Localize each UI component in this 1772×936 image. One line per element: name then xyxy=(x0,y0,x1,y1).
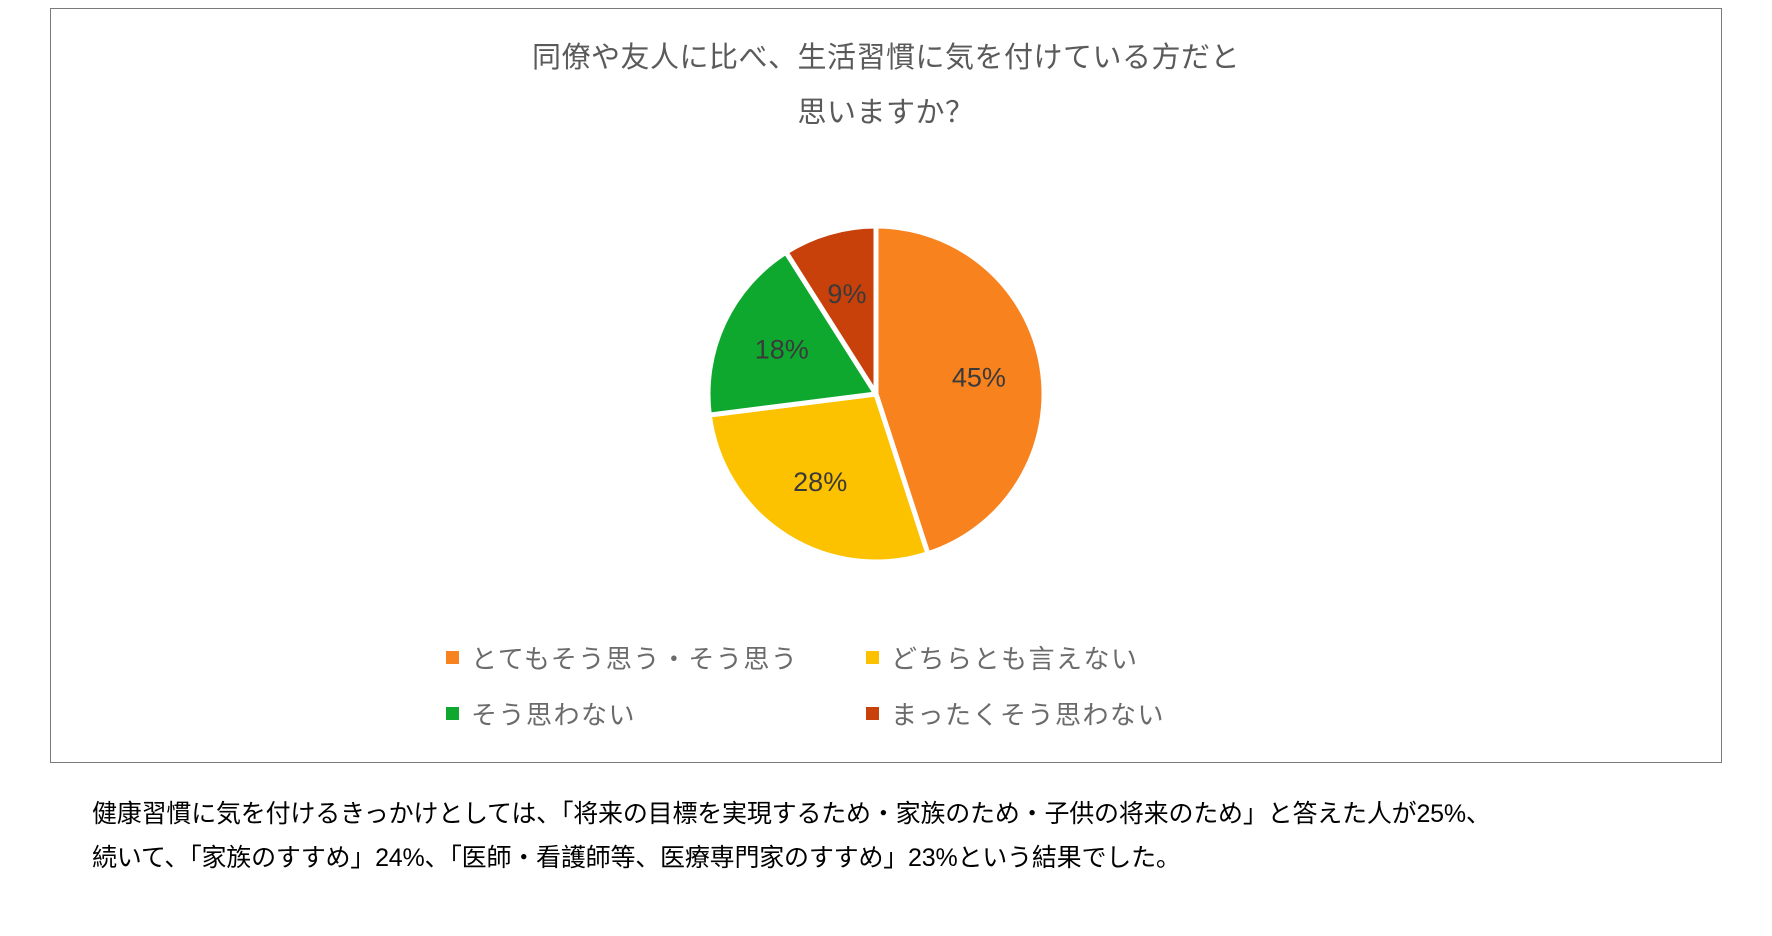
pie-slices-group xyxy=(708,226,1044,562)
legend-item-very-agree-agree[interactable]: とてもそう思う・そう思う xyxy=(446,639,866,676)
legend-label: まったくそう思わない xyxy=(891,695,1165,732)
pie-data-label: 9% xyxy=(827,279,866,309)
pie-data-label: 28% xyxy=(793,467,847,497)
legend-swatch-icon xyxy=(446,707,459,720)
legend-swatch-icon xyxy=(446,651,459,664)
legend-label: そう思わない xyxy=(471,695,636,732)
pie-slice[interactable] xyxy=(876,226,1044,554)
pie-slice[interactable] xyxy=(709,394,928,562)
legend-row: とてもそう思う・そう思う どちらとも言えない xyxy=(446,629,1286,685)
legend-item-disagree[interactable]: そう思わない xyxy=(446,695,866,732)
legend-item-neutral[interactable]: どちらとも言えない xyxy=(866,639,1286,676)
pie-slice[interactable] xyxy=(786,226,876,394)
pie-data-label: 45% xyxy=(952,363,1006,393)
legend-label: とてもそう思う・そう思う xyxy=(471,639,798,676)
legend-row: そう思わない まったくそう思わない xyxy=(446,685,1286,741)
legend-label: どちらとも言えない xyxy=(891,639,1139,676)
caption-text: 健康習慣に気を付けるきっかけとしては、「将来の目標を実現するため・家族のため・子… xyxy=(92,792,1732,880)
pie-data-labels-group: 45%28%18%9% xyxy=(755,279,1006,497)
caption-line-1: 健康習慣に気を付けるきっかけとしては、「将来の目標を実現するため・家族のため・子… xyxy=(92,792,1732,836)
chart-title: 同僚や友人に比べ、生活習慣に気を付けている方だと 思いますか？ xyxy=(51,31,1721,141)
legend-swatch-icon xyxy=(866,707,879,720)
pie-chart-svg: 45%28%18%9% xyxy=(681,204,1071,584)
pie-data-label: 18% xyxy=(755,335,809,365)
legend-item-strongly-disagree[interactable]: まったくそう思わない xyxy=(866,695,1286,732)
chart-container: 同僚や友人に比べ、生活習慣に気を付けている方だと 思いますか？ 45%28%18… xyxy=(50,8,1722,763)
chart-legend: とてもそう思う・そう思う どちらとも言えない そう思わない まったくそう思わない xyxy=(446,629,1286,741)
pie-slice[interactable] xyxy=(708,252,876,415)
caption-line-2: 続いて、「家族のすすめ」24%、「医師・看護師等、医療専門家のすすめ」23%とい… xyxy=(92,836,1732,880)
legend-swatch-icon xyxy=(866,651,879,664)
